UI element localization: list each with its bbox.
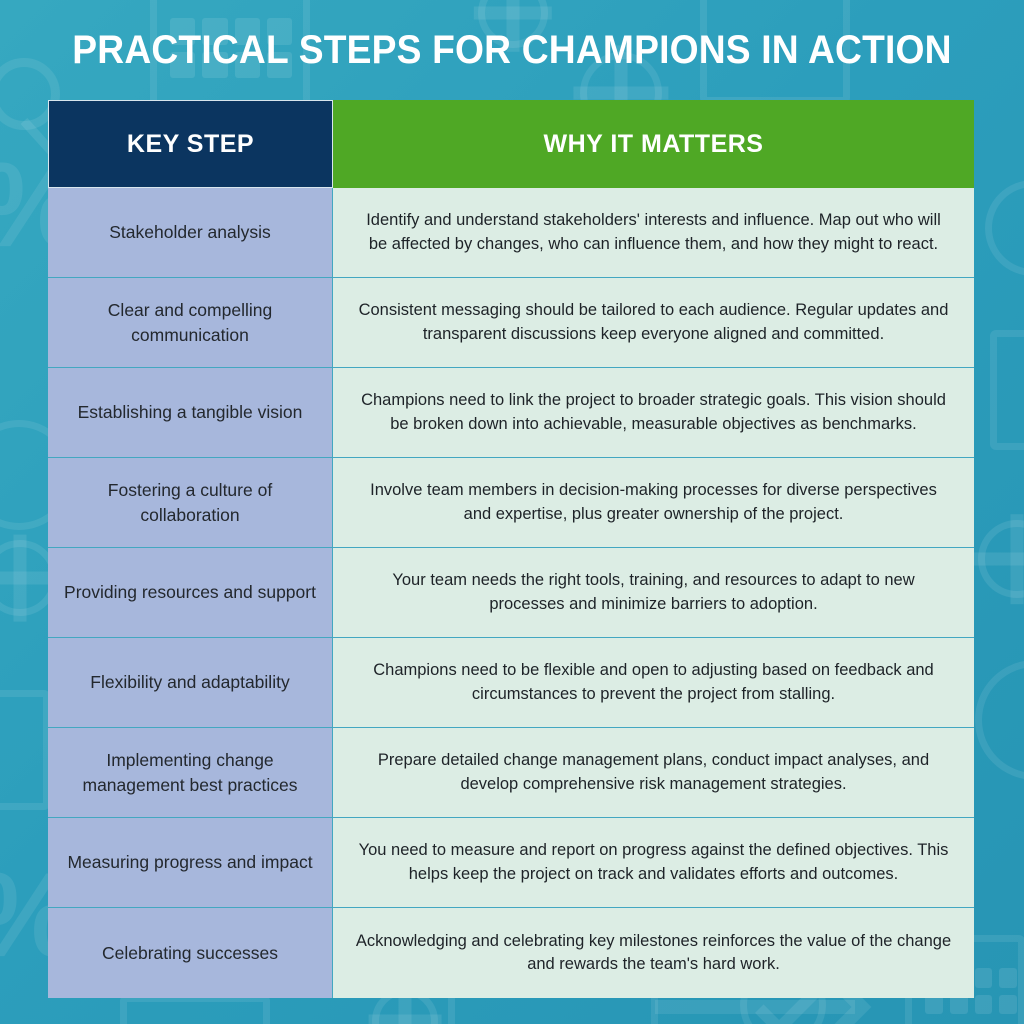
cell-why-it-matters: Involve team members in decision-making … [333, 458, 974, 548]
table-row: Providing resources and support Your tea… [48, 548, 974, 638]
cell-why-it-matters: Acknowledging and celebrating key milest… [333, 908, 974, 998]
cell-why-it-matters: You need to measure and report on progre… [333, 818, 974, 908]
page-title: PRACTICAL STEPS FOR CHAMPIONS IN ACTION [36, 28, 988, 73]
table-body: Stakeholder analysis Identify and unders… [48, 188, 974, 998]
cell-key-step: Measuring progress and impact [48, 818, 333, 908]
cell-why-it-matters: Prepare detailed change management plans… [333, 728, 974, 818]
table-row: Clear and compelling communication Consi… [48, 278, 974, 368]
table-row: Fostering a culture of collaboration Inv… [48, 458, 974, 548]
table-row: Measuring progress and impact You need t… [48, 818, 974, 908]
table-row: Stakeholder analysis Identify and unders… [48, 188, 974, 278]
cell-why-it-matters: Your team needs the right tools, trainin… [333, 548, 974, 638]
cell-why-it-matters: Consistent messaging should be tailored … [333, 278, 974, 368]
steps-table: KEY STEP WHY IT MATTERS Stakeholder anal… [48, 100, 974, 998]
cell-key-step: Providing resources and support [48, 548, 333, 638]
table-header-row: KEY STEP WHY IT MATTERS [48, 100, 974, 188]
cell-key-step: Flexibility and adaptability [48, 638, 333, 728]
table-row: Flexibility and adaptability Champions n… [48, 638, 974, 728]
table-row: Implementing change management best prac… [48, 728, 974, 818]
cell-key-step: Clear and compelling communication [48, 278, 333, 368]
column-header-why-it-matters: WHY IT MATTERS [333, 100, 974, 188]
cell-key-step: Establishing a tangible vision [48, 368, 333, 458]
cell-key-step: Implementing change management best prac… [48, 728, 333, 818]
cell-key-step: Fostering a culture of collaboration [48, 458, 333, 548]
cell-why-it-matters: Champions need to be flexible and open t… [333, 638, 974, 728]
cell-key-step: Celebrating successes [48, 908, 333, 998]
table-row: Establishing a tangible vision Champions… [48, 368, 974, 458]
cell-why-it-matters: Champions need to link the project to br… [333, 368, 974, 458]
cell-why-it-matters: Identify and understand stakeholders' in… [333, 188, 974, 278]
table-row: Celebrating successes Acknowledging and … [48, 908, 974, 998]
column-header-key-step: KEY STEP [48, 100, 333, 188]
cell-key-step: Stakeholder analysis [48, 188, 333, 278]
